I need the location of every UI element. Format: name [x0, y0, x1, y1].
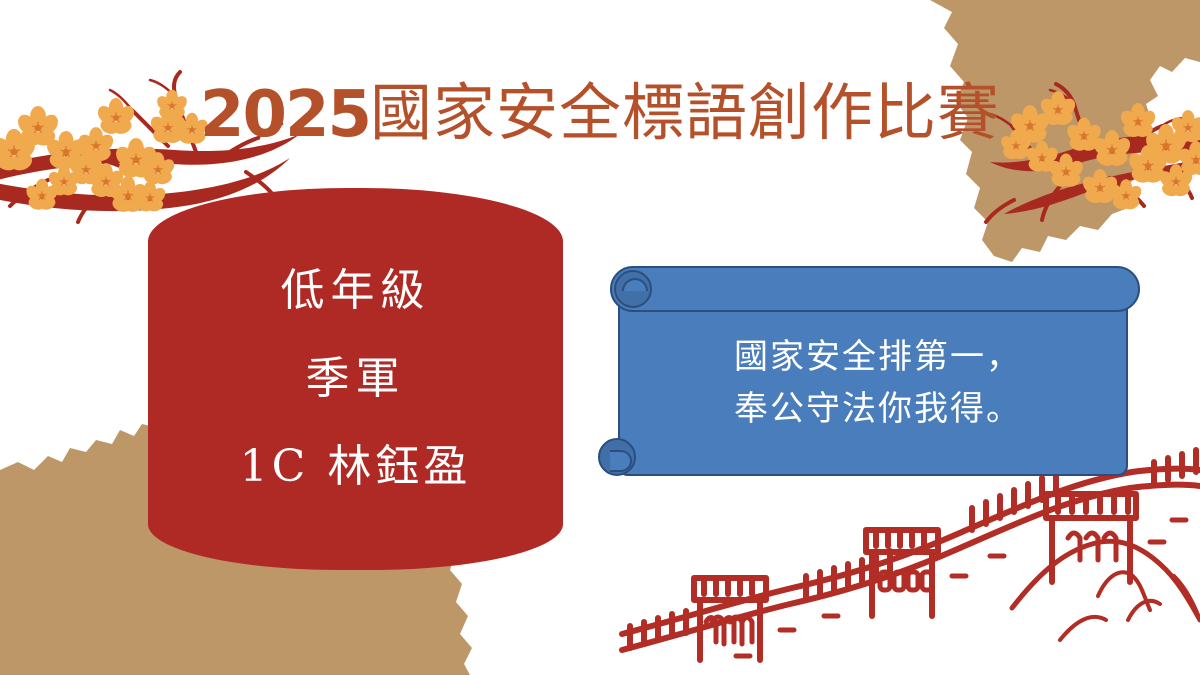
- slogan-text: 國家安全排第一， 奉公守法你我得。: [638, 332, 1118, 435]
- scroll-curl-bottom-left-icon: [598, 438, 636, 476]
- slogan-line-1: 國家安全排第一，: [638, 332, 1118, 384]
- award-badge: 低年級 季軍 1C 林鈺盈: [148, 188, 563, 570]
- scroll-top-roll: [610, 266, 1140, 312]
- badge-grade-level: 低年級: [281, 269, 431, 313]
- badge-award-rank: 季軍: [306, 357, 406, 401]
- title-year: 2025: [200, 78, 370, 152]
- badge-class-and-name: 1C 林鈺盈: [240, 445, 472, 489]
- page-title: 2025國家安全標語創作比賽: [0, 62, 1200, 152]
- scroll-curl-top-left-icon: [614, 270, 652, 308]
- slogan-line-2: 奉公守法你我得。: [638, 384, 1118, 436]
- slogan-scroll: 國家安全排第一， 奉公守法你我得。: [598, 262, 1148, 482]
- title-text: 國家安全標語創作比賽: [370, 76, 1000, 149]
- slide-canvas: 2025國家安全標語創作比賽 低年級 季軍 1C 林鈺盈 國家安全排第一， 奉公…: [0, 0, 1200, 675]
